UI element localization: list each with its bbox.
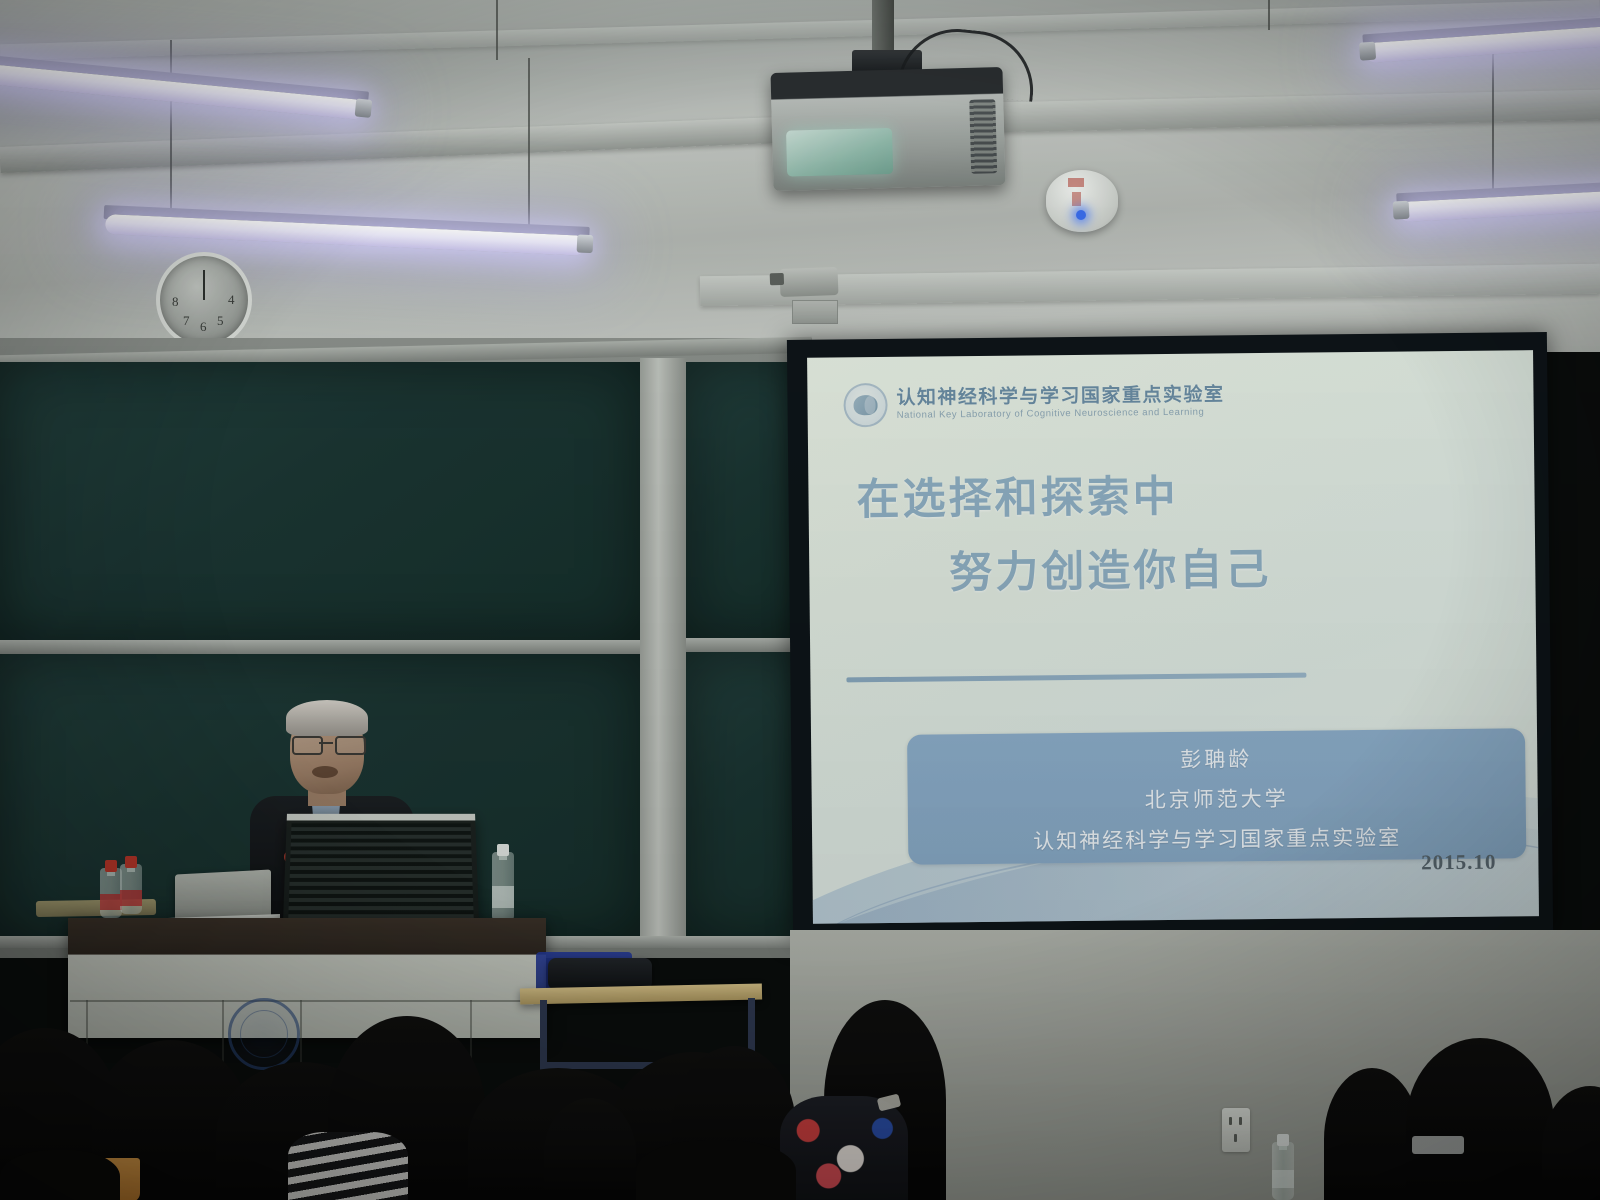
audience-shirt-collar: [1412, 1136, 1464, 1154]
speaker-hair: [286, 700, 368, 736]
podium-desk: [68, 918, 546, 1038]
bottle-label: [120, 890, 142, 906]
slide-title: 在选择和探索中 努力创造你自己: [808, 458, 1535, 602]
glasses-icon: [292, 736, 362, 751]
ceiling-beam: [980, 89, 1600, 132]
blackboard-divider-vertical: [640, 358, 686, 944]
blackboard-rail-middle: [0, 640, 640, 654]
podium-monitor[interactable]: [283, 814, 479, 925]
lecture-hall-photo: 8 7 6 5 4: [0, 0, 1600, 1200]
wall-outlet: [1222, 1108, 1250, 1152]
bottle-cap: [105, 860, 117, 872]
brain-circle-logo-icon: [843, 383, 887, 427]
clock-numeral: 4: [228, 292, 235, 308]
detector-marking: [1068, 178, 1084, 187]
light-suspension-wire: [496, 0, 498, 60]
slide-title-line1: 在选择和探索中: [808, 458, 1535, 528]
sensor-nub: [770, 273, 784, 285]
projector-lens: [786, 128, 893, 177]
brain-shape-icon: [853, 395, 877, 415]
glasses-bridge: [319, 742, 333, 744]
water-bottle: [492, 840, 514, 922]
wall-clock: 8 7 6 5 4: [156, 252, 252, 348]
detector-marking: [1072, 192, 1081, 206]
water-bottle: [100, 856, 122, 918]
light-suspension-wire: [1268, 0, 1270, 30]
ceiling-beam: [0, 117, 780, 173]
blackboard-panel-upper-left: [0, 362, 640, 640]
outlet-slot: [1229, 1117, 1232, 1125]
bottle-cap: [497, 844, 509, 856]
audience-head: [1406, 1038, 1554, 1200]
glasses-lens: [292, 736, 323, 755]
audience-head: [544, 1098, 636, 1200]
outlet-slot: [1234, 1134, 1237, 1142]
bottle-label: [492, 886, 514, 908]
author-name: 彭聃龄: [907, 740, 1525, 776]
projector-vent: [969, 99, 997, 174]
podium-panel-seam: [70, 1000, 540, 1002]
slide-title-line2: 努力创造你自己: [809, 532, 1536, 602]
lab-name-cn: 认知神经科学与学习国家重点实验室: [896, 385, 1224, 408]
slide-date: 2015.10: [1421, 850, 1497, 876]
clock-numeral: 7: [183, 313, 190, 329]
slide-divider-rule: [846, 673, 1306, 683]
light-suspension-wire: [1492, 38, 1494, 198]
clock-numeral: 6: [200, 319, 207, 335]
presentation-slide: 认知神经科学与学习国家重点实验室 National Key Laboratory…: [807, 350, 1539, 924]
clock-numeral: 5: [217, 313, 224, 329]
light-suspension-wire: [528, 58, 530, 228]
bottle-cap: [125, 856, 137, 868]
smoke-detector: [1046, 170, 1118, 232]
bottle-label: [1272, 1170, 1294, 1188]
light-endcap: [1359, 42, 1376, 61]
audience-striped-shirt: [288, 1132, 408, 1200]
projection-screen: 认知神经科学与学习国家重点实验室 National Key Laboratory…: [787, 332, 1553, 940]
audience-floral-top: [780, 1096, 908, 1200]
author-organization: 北京师范大学: [908, 780, 1526, 816]
clock-numeral: 8: [172, 294, 179, 310]
detector-led-icon: [1076, 210, 1086, 220]
ceiling-bracket-sensor: [780, 267, 839, 297]
slide-lab-header: 认知神经科学与学习国家重点实验室 National Key Laboratory…: [843, 379, 1224, 427]
light-suspension-wire: [170, 40, 172, 220]
water-bottle: [1272, 1130, 1294, 1200]
glasses-lens: [335, 736, 366, 755]
outlet-slot: [1239, 1117, 1242, 1125]
bottle-cap: [1277, 1134, 1289, 1146]
audience-shoulder: [636, 1140, 796, 1200]
ceiling-projector: [770, 67, 1005, 191]
speaker-mouth: [312, 766, 338, 778]
light-endcap: [355, 98, 373, 117]
slide-author-box: 彭聃龄 北京师范大学 认知神经科学与学习国家重点实验室: [907, 728, 1526, 864]
university-seal-icon: [228, 998, 300, 1070]
water-bottle: [120, 852, 142, 914]
light-endcap: [577, 234, 594, 253]
monitor-grille: [288, 823, 474, 921]
bottle-label: [100, 894, 122, 910]
lab-name-en: National Key Laboratory of Cognitive Neu…: [897, 407, 1225, 421]
wall-plate: [792, 300, 838, 324]
audience-shoulder: [0, 1150, 120, 1200]
light-endcap: [1393, 201, 1410, 220]
desk-leg: [540, 1000, 547, 1070]
clock-minute-hand: [203, 270, 205, 300]
